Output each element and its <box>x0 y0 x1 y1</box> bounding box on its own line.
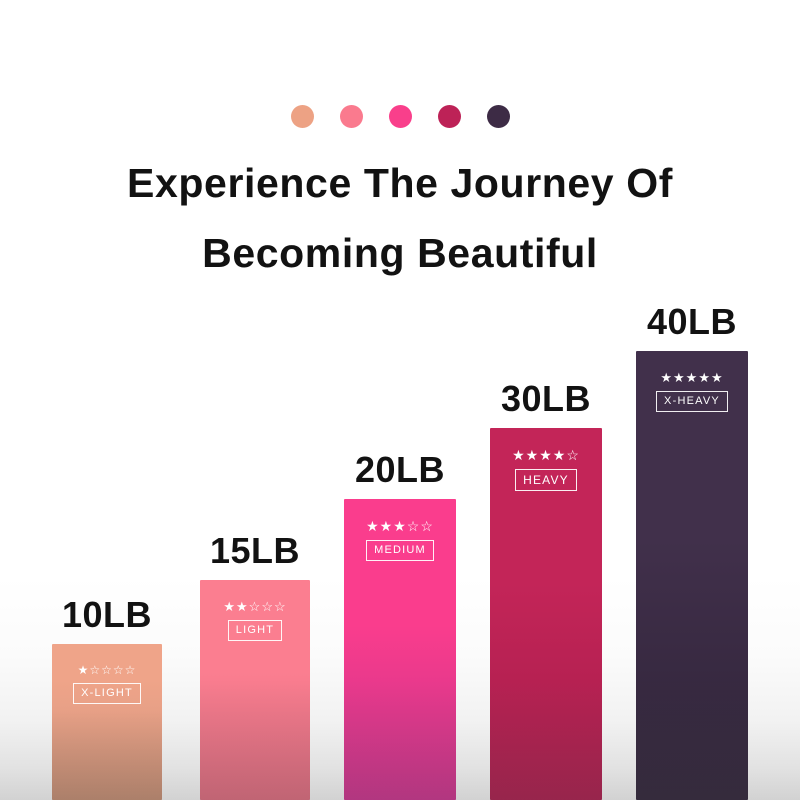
bar-heavy[interactable]: ★★★★☆HEAVY <box>490 428 602 800</box>
bar-light-star-rating: ★★☆☆☆ <box>200 600 310 613</box>
product-infographic-poster: Experience The Journey Of Becoming Beaut… <box>0 0 800 800</box>
bar-light-bottom-shadow <box>200 680 310 800</box>
bar-light-weight-label: 15LB <box>178 530 332 572</box>
bar-x-light-level-label: X-LIGHT <box>73 683 141 704</box>
bar-light-level-label: LIGHT <box>228 620 282 641</box>
bar-x-heavy[interactable]: ★★★★★X-HEAVY <box>636 351 748 800</box>
bar-heavy-group: ★★★★☆HEAVY30LB <box>490 428 602 800</box>
bar-heavy-weight-label: 30LB <box>468 378 624 420</box>
bar-x-light-badge: ★☆☆☆☆X-LIGHT <box>52 664 162 704</box>
bar-light-group: ★★☆☆☆LIGHT15LB <box>200 580 310 800</box>
bar-heavy-bottom-shadow <box>490 680 602 800</box>
resistance-band-bar-chart: ★☆☆☆☆X-LIGHT10LB★★☆☆☆LIGHT15LB★★★☆☆MEDIU… <box>0 0 800 800</box>
bar-heavy-star-rating: ★★★★☆ <box>490 448 602 462</box>
bar-x-light-group: ★☆☆☆☆X-LIGHT10LB <box>52 644 162 800</box>
bar-x-light-star-rating: ★☆☆☆☆ <box>52 664 162 676</box>
bar-light-badge: ★★☆☆☆LIGHT <box>200 600 310 641</box>
bar-x-heavy-level-label: X-HEAVY <box>656 391 728 412</box>
bar-light[interactable]: ★★☆☆☆LIGHT <box>200 580 310 800</box>
bar-medium-badge: ★★★☆☆MEDIUM <box>344 519 456 561</box>
bar-x-heavy-star-rating: ★★★★★ <box>636 371 748 384</box>
bar-medium-bottom-shadow <box>344 680 456 800</box>
bar-x-light[interactable]: ★☆☆☆☆X-LIGHT <box>52 644 162 800</box>
bar-medium-weight-label: 20LB <box>322 449 478 491</box>
bar-x-heavy-weight-label: 40LB <box>614 301 770 343</box>
bar-x-heavy-group: ★★★★★X-HEAVY40LB <box>636 351 748 800</box>
bar-medium-level-label: MEDIUM <box>366 540 434 561</box>
bar-x-heavy-bottom-shadow <box>636 680 748 800</box>
bar-medium[interactable]: ★★★☆☆MEDIUM <box>344 499 456 800</box>
bar-medium-star-rating: ★★★☆☆ <box>344 519 456 533</box>
bar-medium-group: ★★★☆☆MEDIUM20LB <box>344 499 456 800</box>
bar-heavy-level-label: HEAVY <box>515 469 577 491</box>
bar-heavy-badge: ★★★★☆HEAVY <box>490 448 602 491</box>
bar-x-heavy-badge: ★★★★★X-HEAVY <box>636 371 748 412</box>
bar-x-light-weight-label: 10LB <box>30 594 184 636</box>
